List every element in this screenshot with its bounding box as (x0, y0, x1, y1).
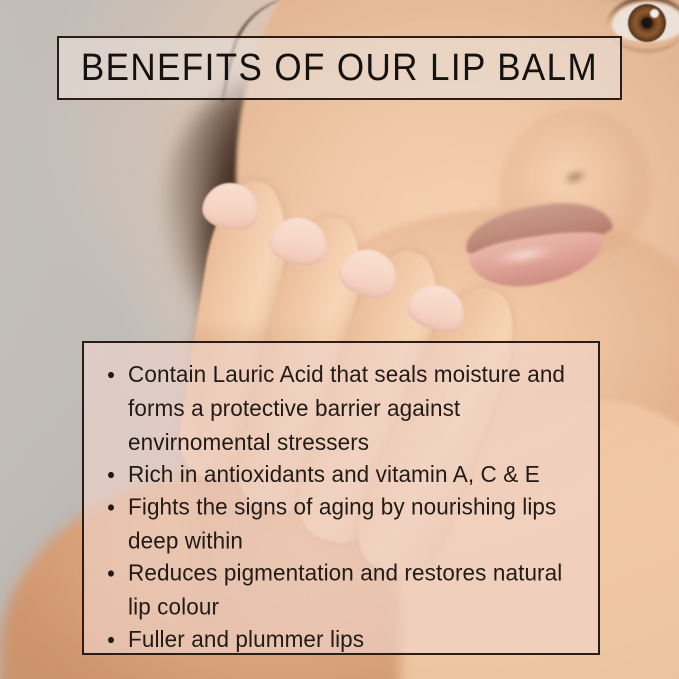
list-item: Fights the signs of aging by nourishing … (102, 490, 580, 558)
page-title: BENEFITS OF OUR LIP BALM (81, 46, 598, 89)
benefits-list: Contain Lauric Acid that seals moisture … (102, 359, 580, 656)
title-box: BENEFITS OF OUR LIP BALM (57, 36, 622, 100)
list-item: Fuller and plummer lips (102, 623, 580, 657)
list-item: Rich in antioxidants and vitamin A, C & … (102, 458, 580, 492)
list-item: Contain Lauric Acid that seals moisture … (102, 358, 580, 460)
benefits-box: Contain Lauric Acid that seals moisture … (82, 341, 600, 655)
list-item: Reduces pigmentation and restores natura… (102, 556, 580, 624)
lip-balm-benefits-poster: BENEFITS OF OUR LIP BALM Contain Lauric … (0, 0, 679, 679)
